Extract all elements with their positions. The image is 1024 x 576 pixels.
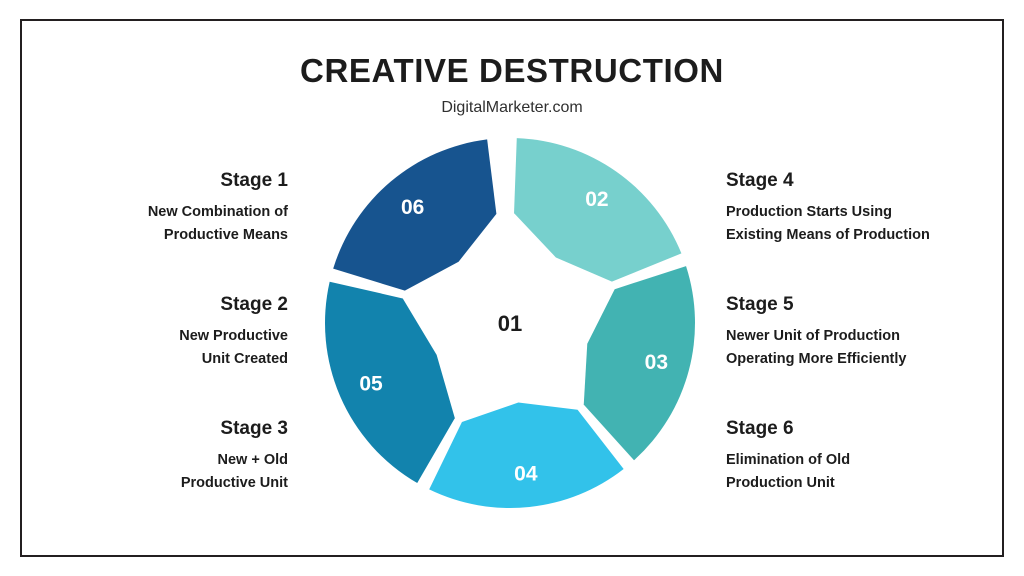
donut-segment-04[interactable] [429,403,623,508]
stage-block-5: Stage 5 Newer Unit of Production Operati… [726,294,996,372]
donut-segment-label-02: 02 [585,188,608,211]
stage-3-line-2: Productive Unit [18,472,288,495]
donut-segment-label-06: 06 [401,196,424,219]
stage-block-3: Stage 3 New + Old Productive Unit [18,418,288,496]
page-title: CREATIVE DESTRUCTION [0,52,1024,90]
stage-6-line-1: Elimination of Old [726,449,996,472]
cycle-donut-chart: 0203040506 01 [318,131,702,515]
stage-3-line-1: New + Old [18,449,288,472]
stage-6-description: Elimination of Old Production Unit [726,449,996,496]
stage-2-title: Stage 2 [18,294,288,317]
page-subtitle: DigitalMarketer.com [0,99,1024,117]
stage-4-title: Stage 4 [726,170,996,193]
stage-4-line-1: Production Starts Using [726,201,996,224]
donut-segment-label-04: 04 [514,463,538,486]
stage-5-line-2: Operating More Efficiently [726,348,996,371]
donut-segment-label-05: 05 [359,372,383,395]
stage-2-line-2: Unit Created [18,348,288,371]
stage-block-6: Stage 6 Elimination of Old Production Un… [726,418,996,496]
stage-1-line-1: New Combination of [18,201,288,224]
stage-6-title: Stage 6 [726,418,996,441]
stage-block-4: Stage 4 Production Starts Using Existing… [726,170,996,248]
stage-4-line-2: Existing Means of Production [726,224,996,247]
stage-1-title: Stage 1 [18,170,288,193]
stage-4-description: Production Starts Using Existing Means o… [726,201,996,248]
stage-3-description: New + Old Productive Unit [18,449,288,496]
stage-2-description: New Productive Unit Created [18,325,288,372]
donut-segment-03[interactable] [584,266,695,460]
donut-segment-label-03: 03 [645,351,668,374]
stage-5-line-1: Newer Unit of Production [726,325,996,348]
stage-1-description: New Combination of Productive Means [18,201,288,248]
stage-5-description: Newer Unit of Production Operating More … [726,325,996,372]
stage-block-2: Stage 2 New Productive Unit Created [18,294,288,372]
donut-center-label: 01 [498,311,522,336]
stage-block-1: Stage 1 New Combination of Productive Me… [18,170,288,248]
slide-canvas: CREATIVE DESTRUCTION DigitalMarketer.com… [0,0,1024,576]
stage-2-line-1: New Productive [18,325,288,348]
stage-1-line-2: Productive Means [18,224,288,247]
stage-5-title: Stage 5 [726,294,996,317]
stage-6-line-2: Production Unit [726,472,996,495]
stage-3-title: Stage 3 [18,418,288,441]
